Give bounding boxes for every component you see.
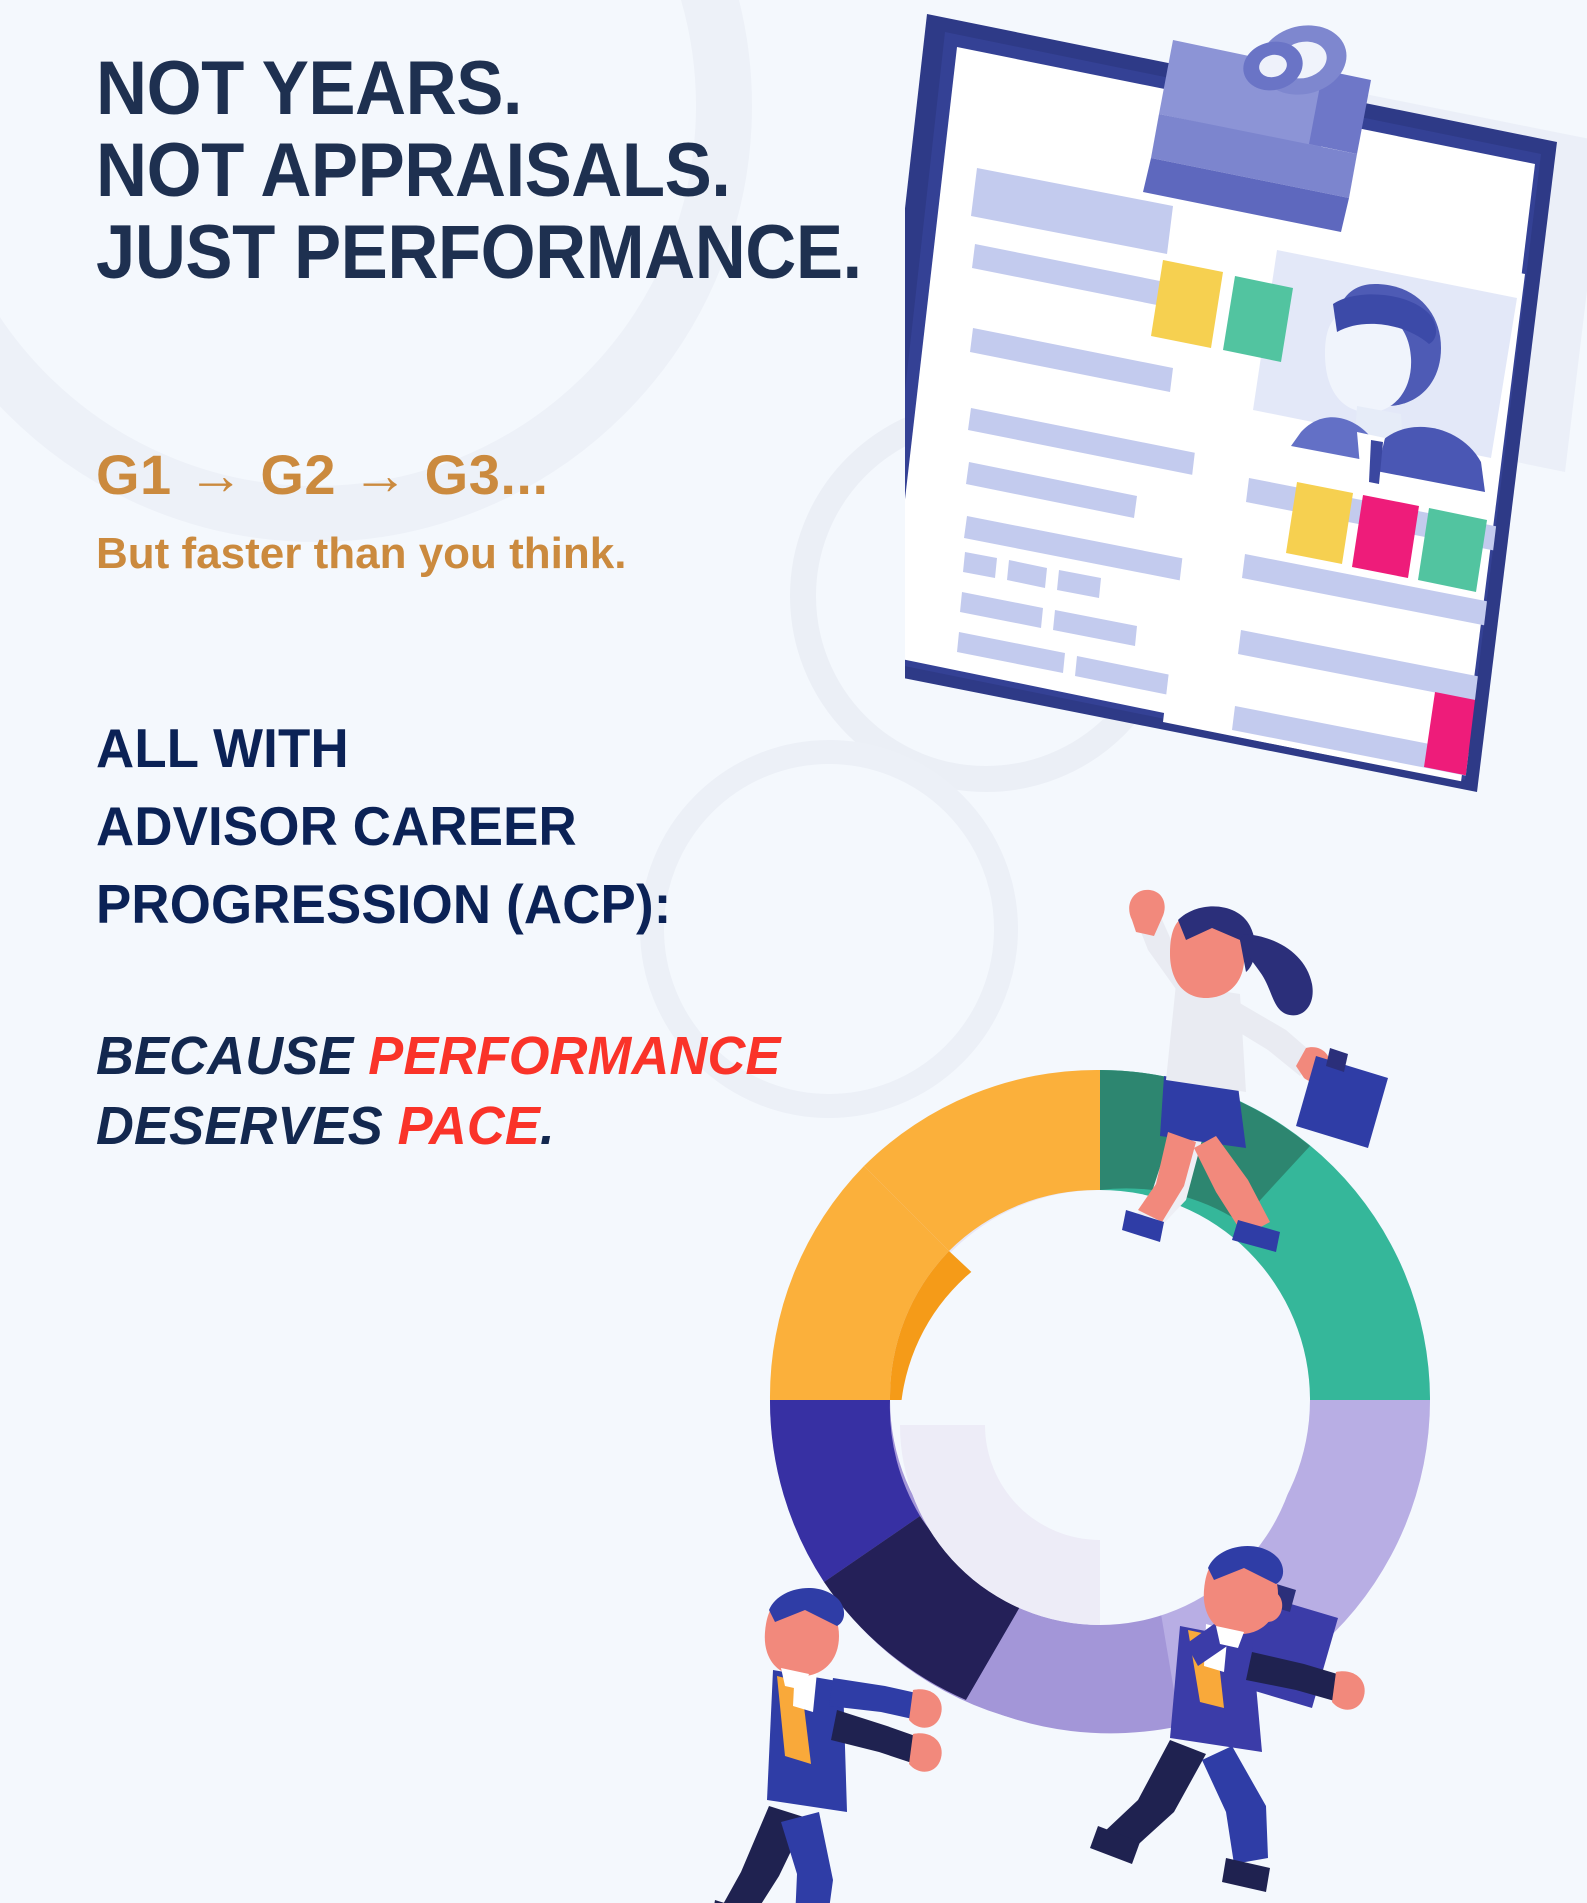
headline-line-1: NOT YEARS. [96,48,877,130]
tagline-line-2-accent: PACE [398,1096,540,1156]
tagline-line-2-prefix: DESERVES [96,1096,398,1156]
grade-progression-path: G1 → G2 → G3... [96,444,936,506]
program-name-block: ALL WITH ADVISOR CAREER PROGRESSION (ACP… [96,709,936,943]
tagline-line-2-suffix: . [540,1096,555,1156]
tagline-line-1: BECAUSE PERFORMANCE [96,1021,911,1091]
headline-line-2: NOT APPRAISALS. [96,130,877,212]
figure-man-running [1090,1546,1365,1892]
program-line-3: PROGRESSION (ACP): [96,865,902,943]
clipboard-resume-illustration [905,0,1587,792]
tagline-block: BECAUSE PERFORMANCE DESERVES PACE. [96,1021,936,1161]
tagline-line-2: DESERVES PACE. [96,1091,911,1161]
text-content-column: NOT YEARS. NOT APPRAISALS. JUST PERFORMA… [96,0,936,1161]
headline-line-3: JUST PERFORMANCE. [96,212,877,294]
figure-man-pushing [711,1588,942,1903]
tagline-line-1-prefix: BECAUSE [96,1026,368,1086]
tagline-line-1-accent: PERFORMANCE [368,1026,780,1086]
figure-woman-running [1122,890,1388,1252]
headline-block: NOT YEARS. NOT APPRAISALS. JUST PERFORMA… [96,48,877,294]
grade-progression-subtitle: But faster than you think. [96,528,936,581]
grade-progression-block: G1 → G2 → G3... But faster than you thin… [96,444,936,580]
program-line-1: ALL WITH [96,709,902,787]
program-line-2: ADVISOR CAREER [96,787,902,865]
poster-canvas: NOT YEARS. NOT APPRAISALS. JUST PERFORMA… [0,0,1587,1903]
